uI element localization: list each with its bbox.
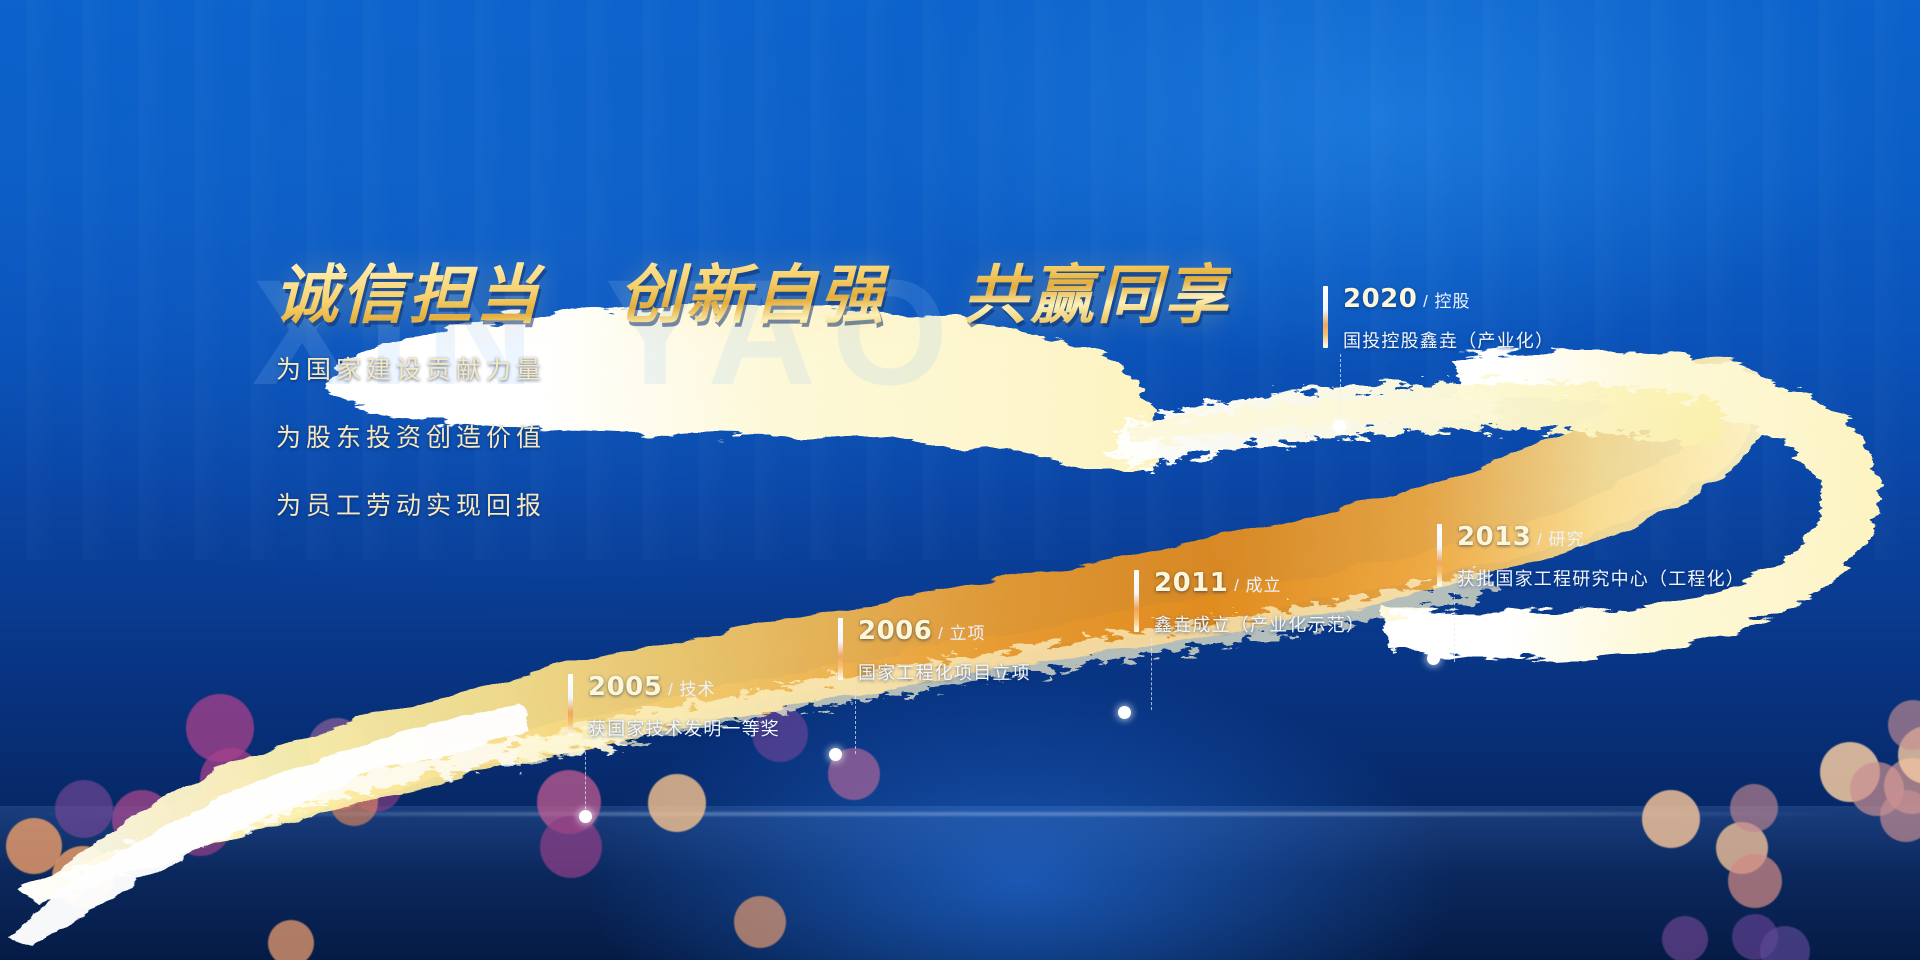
milestone-tag: 技术	[680, 680, 716, 699]
milestone-dot[interactable]	[1427, 652, 1440, 665]
milestone-separator: /	[1417, 292, 1434, 311]
slogan-line: 为员工劳动实现回报	[276, 486, 546, 522]
milestone-heading: 2011 / 成立	[1134, 568, 1365, 602]
bokeh-circle	[112, 790, 172, 850]
milestone-separator: /	[1531, 530, 1548, 549]
bokeh-circle	[1662, 916, 1708, 960]
bokeh-circle	[55, 780, 113, 838]
milestone-leader-line	[1151, 638, 1152, 710]
milestone-separator: /	[932, 624, 949, 643]
headline-part-2: 创新自强	[619, 259, 887, 333]
milestone-year: 2005	[588, 672, 662, 702]
milestone-description: 国投控股鑫垚（产业化）	[1323, 327, 1554, 353]
milestone-separator: /	[1228, 576, 1245, 595]
milestone-leader-line	[855, 686, 856, 754]
page-title: 诚信担当 创新自强 共赢同享	[274, 244, 1231, 336]
milestone-description: 国家工程化项目立项	[838, 659, 1031, 685]
milestone-description: 获批国家工程研究中心（工程化）	[1437, 565, 1745, 591]
bokeh-circle	[52, 846, 114, 908]
milestone-heading: 2005 / 技术	[568, 672, 780, 706]
bokeh-circle	[1728, 854, 1782, 908]
milestone-tag: 控股	[1435, 292, 1471, 311]
bokeh-circle	[1888, 700, 1920, 750]
milestone-description: 获国家技术发明一等奖	[568, 715, 780, 741]
milestone-dot[interactable]	[579, 810, 592, 823]
milestone-2011[interactable]: 2011 / 成立鑫垚成立（产业化示范）	[1134, 568, 1365, 637]
headline-part-3: 共赢同享	[963, 259, 1231, 333]
milestone-leader-line	[1454, 592, 1455, 662]
milestone-year: 2006	[858, 616, 932, 646]
milestone-accent-bar	[568, 674, 573, 736]
milestone-heading: 2013 / 研究	[1437, 522, 1745, 556]
milestone-2006[interactable]: 2006 / 立项国家工程化项目立项	[838, 616, 1031, 685]
bokeh-circle	[540, 816, 602, 878]
milestone-year: 2011	[1154, 568, 1228, 598]
headline-part-1: 诚信担当	[274, 259, 542, 333]
milestone-accent-bar	[1323, 286, 1328, 348]
milestone-leader-line	[1340, 354, 1341, 422]
milestone-accent-bar	[838, 618, 843, 680]
bokeh-circle	[648, 774, 706, 832]
bokeh-circle	[1642, 790, 1700, 848]
milestone-heading: 2020 / 控股	[1323, 284, 1554, 318]
milestone-accent-bar	[1437, 524, 1442, 586]
milestone-separator: /	[662, 680, 679, 699]
milestone-heading: 2006 / 立项	[838, 616, 1031, 650]
milestone-description: 鑫垚成立（产业化示范）	[1134, 611, 1365, 637]
milestone-year: 2013	[1457, 522, 1531, 552]
bokeh-circle	[330, 778, 378, 826]
milestone-year: 2020	[1343, 284, 1417, 314]
milestone-2005[interactable]: 2005 / 技术获国家技术发明一等奖	[568, 672, 780, 741]
milestone-tag: 研究	[1549, 530, 1585, 549]
milestone-tag: 成立	[1246, 576, 1282, 595]
bokeh-circle	[308, 718, 366, 776]
bokeh-circle	[1730, 784, 1778, 832]
milestone-tag: 立项	[950, 624, 986, 643]
milestone-2013[interactable]: 2013 / 研究获批国家工程研究中心（工程化）	[1437, 522, 1745, 591]
milestone-dot[interactable]	[829, 748, 842, 761]
slogan-line: 为股东投资创造价值	[276, 418, 546, 454]
milestone-2020[interactable]: 2020 / 控股国投控股鑫垚（产业化）	[1323, 284, 1554, 353]
milestone-dot[interactable]	[1118, 706, 1131, 719]
bokeh-circle	[268, 920, 314, 960]
slogan-line: 为国家建设贡献力量	[276, 350, 546, 386]
milestone-leader-line	[585, 742, 586, 814]
banner-canvas: XIN YAO 诚信担当 创新自强 共赢同享 为国家建设贡献力量 为股东投资创造…	[0, 0, 1920, 960]
bokeh-circle	[734, 896, 786, 948]
milestone-dot[interactable]	[1333, 420, 1346, 433]
slogan-list: 为国家建设贡献力量 为股东投资创造价值 为员工劳动实现回报	[276, 350, 546, 554]
milestone-accent-bar	[1134, 570, 1139, 632]
bokeh-circle	[186, 694, 254, 762]
background-horizon-line	[0, 812, 1920, 816]
